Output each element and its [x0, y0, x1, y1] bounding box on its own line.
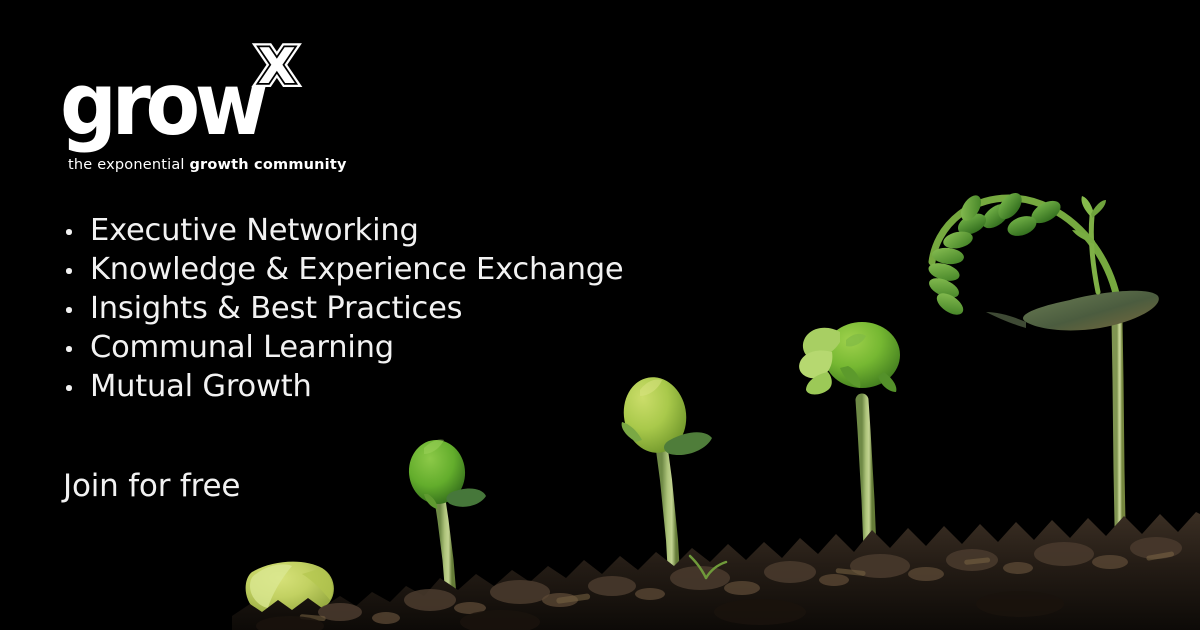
benefit-label: Knowledge & Experience Exchange — [90, 252, 623, 287]
list-item: Insights & Best Practices — [66, 289, 623, 328]
benefit-label: Communal Learning — [90, 330, 394, 365]
tagline-light-text: the exponential — [68, 157, 189, 173]
wordmark-text: grow — [60, 62, 263, 149]
list-item: Mutual Growth — [66, 367, 623, 406]
join-for-free-cta[interactable]: Join for free — [63, 466, 240, 506]
superscript-x-icon: X — [258, 42, 296, 91]
brand-logo[interactable]: grow X X the exponential growth communit… — [60, 62, 269, 144]
brand-tagline: the exponential growth community — [68, 157, 347, 173]
benefit-label: Executive Networking — [90, 213, 419, 248]
benefit-label: Insights & Best Practices — [90, 291, 462, 326]
list-item: Knowledge & Experience Exchange — [66, 250, 623, 289]
benefits-list: Executive Networking Knowledge & Experie… — [66, 211, 623, 406]
content-layer: grow X X the exponential growth communit… — [0, 0, 1200, 630]
list-item: Executive Networking — [66, 211, 623, 250]
tagline-bold-text: growth community — [189, 157, 346, 173]
poster-canvas: grow X X the exponential growth communit… — [0, 0, 1200, 630]
list-item: Communal Learning — [66, 328, 623, 367]
benefit-label: Mutual Growth — [90, 369, 312, 404]
